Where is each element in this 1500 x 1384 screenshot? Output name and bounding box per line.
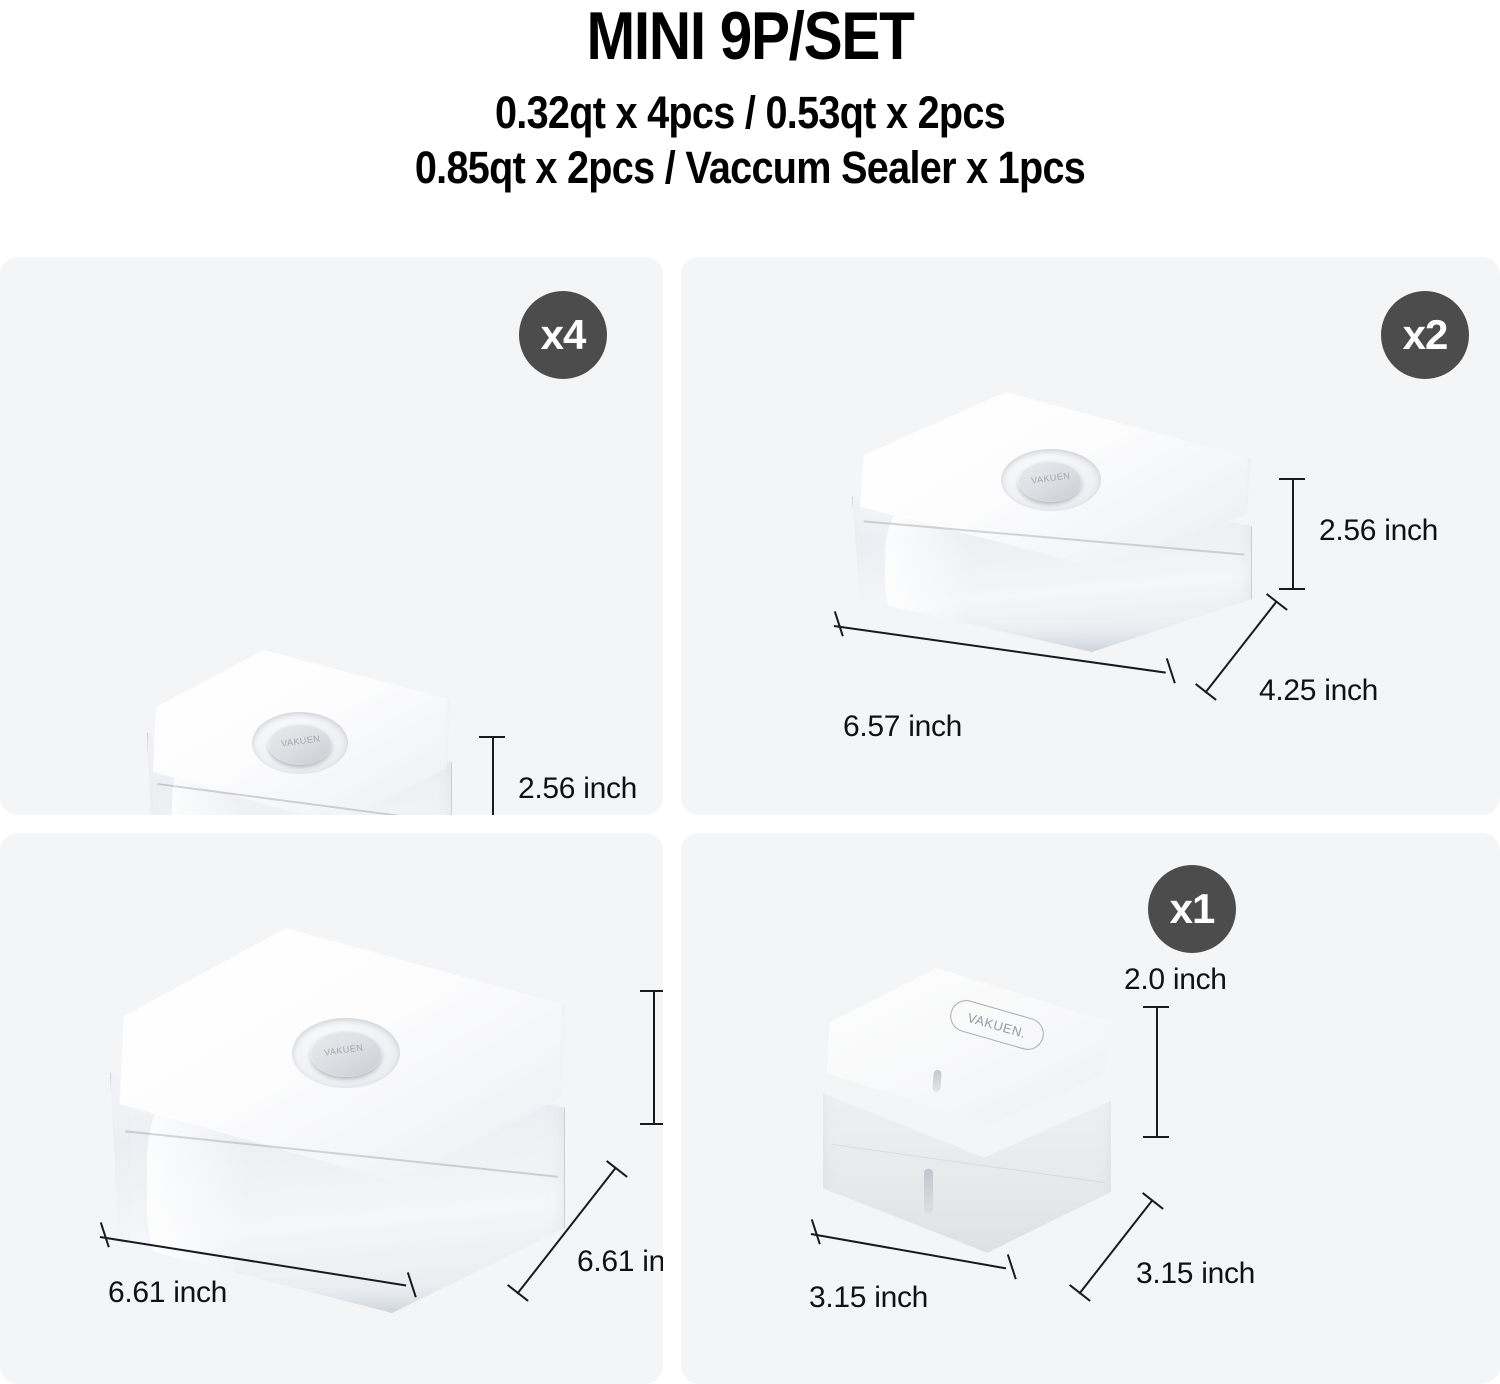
dimension-height-label: 2.56 inch (1319, 514, 1438, 548)
panel-medium-rectangular-container: x2 VAKUEN 2.56 inch 4.25 inch 6.57 in (681, 257, 1500, 815)
quantity-badge: x1 (1148, 865, 1236, 953)
valve-button (310, 1030, 382, 1077)
dimension-width-label: 3.15 inch (809, 1281, 928, 1315)
header: MINI 9P/SET 0.32qt x 4pcs / 0.53qt x 2pc… (0, 0, 1500, 196)
dimension-depth-label: 4.25 inch (1259, 674, 1378, 708)
valve-button (1018, 460, 1082, 502)
dimension-width-label: 6.61 inch (108, 1276, 227, 1310)
dimension-depth-label: 6.61 inch (577, 1245, 663, 1279)
sealer-indicator-light-top (932, 1070, 942, 1093)
quantity-badge: x4 (519, 291, 607, 379)
product-illustration-vacuum-sealer: VAKUEN. (681, 833, 1500, 1384)
dimension-height-label: 2.0 inch (1124, 963, 1227, 997)
dimension-height-label: 2.56 inch (518, 772, 637, 806)
subtitle-line-2: 0.85qt x 2pcs / Vaccum Sealer x 1pcs (90, 141, 1410, 196)
valve-button (268, 723, 332, 765)
product-illustration-large-square: VAKUEN (0, 833, 663, 1384)
dimension-width-label: 6.57 inch (843, 710, 962, 744)
panel-large-square-container: x2 VAKUEN 2.56 inch 6.61 inch 6.61 in (0, 833, 663, 1384)
subtitle-line-1: 0.32qt x 4pcs / 0.53qt x 2pcs (90, 86, 1410, 141)
panel-vacuum-sealer: x1 VAKUEN. 2.0 inch (681, 833, 1500, 1384)
page-title: MINI 9P/SET (105, 2, 1395, 70)
sealer-indicator-light-bottom (924, 1169, 933, 1213)
quantity-badge: x2 (1381, 291, 1469, 379)
product-panel-grid: x4 VAKUEN 2.56 inch 3.54 inch (0, 257, 1500, 1384)
panel-small-square-container: x4 VAKUEN 2.56 inch 3.54 inch (0, 257, 663, 815)
dimension-depth-label: 3.15 inch (1136, 1257, 1255, 1291)
